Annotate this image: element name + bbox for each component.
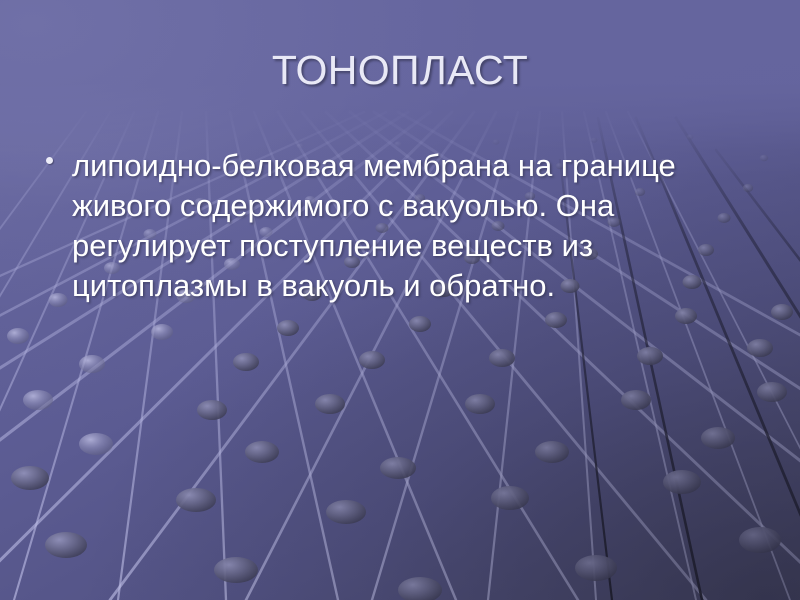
slide-body: липоидно-белковая мембрана на границе жи… — [46, 146, 762, 306]
slide-title: ТОНОПЛАСТ — [0, 46, 800, 94]
bullet-dot-icon — [46, 146, 72, 164]
bullet-item-text: липоидно-белковая мембрана на границе жи… — [72, 146, 762, 306]
presentation-slide: ТОНОПЛАСТ липоидно-белковая мембрана на … — [0, 0, 800, 600]
bullet-list-item: липоидно-белковая мембрана на границе жи… — [46, 146, 762, 306]
